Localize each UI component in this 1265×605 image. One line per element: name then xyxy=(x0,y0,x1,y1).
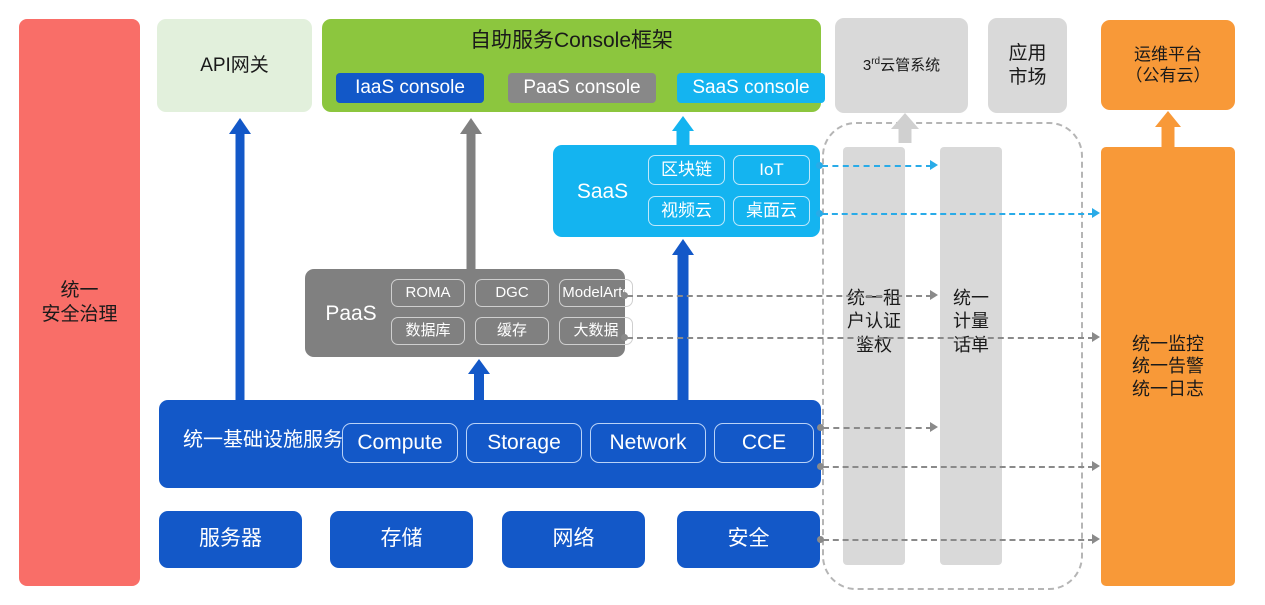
console-frame-title: 自助服务Console框架 xyxy=(322,28,821,54)
saas-console-chip[interactable]: SaaS console xyxy=(677,73,825,103)
infra-service-storage[interactable]: Storage xyxy=(466,423,582,463)
saas-service-video-cloud[interactable]: 视频云 xyxy=(648,196,725,226)
unified-infrastructure-label: 统一基础设施服务 xyxy=(183,428,343,453)
paas-service-cache[interactable]: 缓存 xyxy=(475,317,549,345)
resource-tile-server[interactable]: 服务器 xyxy=(159,511,302,568)
shared-service-metering-label: 统一 计量 话单 xyxy=(940,287,1002,357)
connector-arrowhead-saas-to-auth xyxy=(930,160,938,170)
arrow-saas-to-console xyxy=(672,116,694,145)
paas-service-bigdata[interactable]: 大数据 xyxy=(559,317,633,345)
saas-layer-box: SaaS 区块链 IoT 视频云 桌面云 xyxy=(553,145,820,237)
connector-arrowhead-resources-to-ops xyxy=(1092,534,1100,544)
arrow-infra-to-api-gateway xyxy=(229,118,251,400)
connector-arrowhead-infra-to-ops xyxy=(1092,461,1100,471)
unified-security-governance-panel: 统一 安全治理 xyxy=(19,19,140,586)
api-gateway-label: API网关 xyxy=(200,54,269,78)
shared-service-auth-column: 统一租 户认证 鉴权 xyxy=(843,147,905,565)
ops-platform-label: 运维平台 （公有云） xyxy=(1126,44,1211,87)
paas-service-database[interactable]: 数据库 xyxy=(391,317,465,345)
infra-service-cce[interactable]: CCE xyxy=(714,423,814,463)
resource-tile-security[interactable]: 安全 xyxy=(677,511,820,568)
paas-layer-box: PaaS ROMA DGC ModelArts 数据库 缓存 大数据 xyxy=(305,269,625,357)
saas-service-desktop-cloud[interactable]: 桌面云 xyxy=(733,196,810,226)
ops-monitoring-panel: 统一监控 统一告警 统一日志 xyxy=(1101,147,1235,586)
saas-service-blockchain[interactable]: 区块链 xyxy=(648,155,725,185)
saas-layer-label: SaaS xyxy=(565,179,640,205)
connector-saas-to-ops xyxy=(822,213,1094,215)
connector-resources-to-ops xyxy=(823,539,1094,541)
unified-security-governance-label: 统一 安全治理 xyxy=(41,279,117,327)
self-service-console-frame: 自助服务Console框架 IaaS console PaaS console … xyxy=(322,19,821,112)
paas-console-chip[interactable]: PaaS console xyxy=(508,73,656,103)
paas-layer-label: PaaS xyxy=(315,301,387,327)
unified-infrastructure-bar: 统一基础设施服务 Compute Storage Network CCE xyxy=(159,400,821,488)
third-party-cloud-mgmt-label: 3rd云管系统 xyxy=(863,56,940,76)
saas-service-iot[interactable]: IoT xyxy=(733,155,810,185)
connector-arrowhead-paas-to-ops xyxy=(1092,332,1100,342)
connector-infra-to-ops xyxy=(823,466,1094,468)
app-market-box: 应用 市场 xyxy=(988,18,1067,113)
iaas-console-chip[interactable]: IaaS console xyxy=(336,73,484,103)
infra-service-compute[interactable]: Compute xyxy=(342,423,458,463)
resource-tile-storage[interactable]: 存储 xyxy=(330,511,473,568)
connector-arrowhead-infra-to-auth xyxy=(930,422,938,432)
ops-monitoring-label: 统一监控 统一告警 统一日志 xyxy=(1132,333,1204,401)
connector-saas-to-auth xyxy=(822,165,932,167)
arrow-paas-to-console xyxy=(460,118,482,269)
arrow-ops-panel-to-platform xyxy=(1155,111,1181,147)
shared-service-auth-label: 统一租 户认证 鉴权 xyxy=(843,287,905,357)
infra-service-network[interactable]: Network xyxy=(590,423,706,463)
connector-paas-to-ops xyxy=(627,337,1094,339)
ops-platform-box: 运维平台 （公有云） xyxy=(1101,20,1235,110)
shared-service-metering-column: 统一 计量 话单 xyxy=(940,147,1002,565)
connector-arrowhead-saas-to-ops xyxy=(1092,208,1100,218)
connector-paas-to-auth xyxy=(627,295,932,297)
connector-infra-to-auth xyxy=(823,427,932,429)
third-party-cloud-mgmt-box: 3rd云管系统 xyxy=(835,18,968,113)
paas-service-dgc[interactable]: DGC xyxy=(475,279,549,307)
arrow-shared-to-third-party xyxy=(890,113,920,143)
paas-service-roma[interactable]: ROMA xyxy=(391,279,465,307)
connector-arrowhead-paas-to-auth xyxy=(930,290,938,300)
app-market-label: 应用 市场 xyxy=(1008,42,1046,90)
resource-tile-network[interactable]: 网络 xyxy=(502,511,645,568)
api-gateway-box: API网关 xyxy=(157,19,312,112)
architecture-diagram: 统一租 户认证 鉴权 统一 计量 话单 统一 安全治理 API网关 自助服务Co… xyxy=(0,0,1265,605)
arrow-infra-to-paas xyxy=(468,359,490,400)
arrow-infra-to-saas xyxy=(672,239,694,400)
